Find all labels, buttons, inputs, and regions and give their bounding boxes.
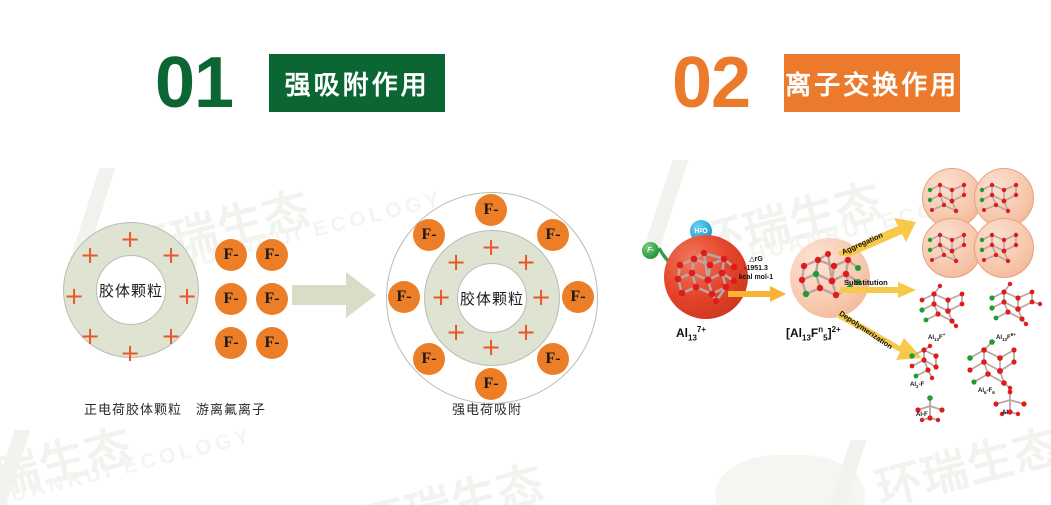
al13f-structure-2 xyxy=(980,276,1051,334)
charge-plus: + xyxy=(516,250,536,274)
charge-plus: + xyxy=(481,335,501,359)
charge-plus: + xyxy=(120,341,140,365)
al-structure xyxy=(988,388,1032,422)
adsorbed-fluoride-ion: F- xyxy=(388,281,420,313)
transition-arrow xyxy=(292,272,376,318)
delta-g-unit: kcal mol-1 xyxy=(739,274,773,281)
watermark-text: HUANRUI ECOLOGY xyxy=(0,424,256,505)
charge-plus: + xyxy=(120,227,140,251)
charge-plus: + xyxy=(446,250,466,274)
delta-g-value: -1951.3 xyxy=(744,265,768,272)
charge-plus: + xyxy=(80,243,100,267)
adsorbed-fluoride-ion: F- xyxy=(537,343,569,375)
section-header-02: 02 离子交换作用 xyxy=(672,47,960,119)
watermark-text: 环瑞生态 xyxy=(868,410,1051,505)
product-sublabel: Al xyxy=(1002,410,1008,416)
free-fluoride-ion: F- xyxy=(256,327,288,359)
colloid-core: 胶体颗粒 xyxy=(96,255,166,325)
adsorbed-fluoride-ion: F- xyxy=(562,281,594,313)
colloid-free-ion-diagram: 胶体颗粒 + + + + + + + + F- F- F- F- F- F- xyxy=(55,222,295,382)
al2f-structure xyxy=(902,340,954,386)
product-sublabel: Al2-F xyxy=(910,382,924,389)
section-header-01: 01 强吸附作用 xyxy=(155,47,445,119)
ion-exchange-diagram: F- H2O Al137+ △rG xyxy=(640,160,1051,420)
product-label: [Al13Fn5]2+ xyxy=(786,325,841,342)
watermark-cn: 环瑞生态 xyxy=(870,419,1051,505)
charge-plus: + xyxy=(481,235,501,259)
reaction-energy-text: △rG -1951.3 kcal mol-1 xyxy=(728,256,784,282)
colloid-core-label: 胶体颗粒 xyxy=(460,288,524,309)
reaction-arrow xyxy=(728,286,786,302)
charge-plus: + xyxy=(431,285,451,309)
al6f6-structure xyxy=(956,336,1032,394)
al13f-structure-1 xyxy=(910,280,980,334)
section-number-02: 02 xyxy=(672,47,750,119)
caption-positive-colloid: 正电荷胶体颗粒 xyxy=(84,399,182,418)
free-fluoride-ion: F- xyxy=(256,283,288,315)
branch-label-substitution: Substitution xyxy=(844,278,888,287)
charge-plus: + xyxy=(516,320,536,344)
alf-structure xyxy=(908,392,952,426)
adsorbed-fluoride-ion: F- xyxy=(475,368,507,400)
watermark-slash xyxy=(0,430,31,505)
adsorbed-fluoride-ion: F- xyxy=(413,219,445,251)
watermark-text: 环瑞生态 xyxy=(352,447,550,505)
caption-free-fluoride: 游离氟离子 xyxy=(196,399,266,418)
charge-adsorption-diagram: 胶体颗粒 + + + + + + + + F- F- F- F- F- F- F… xyxy=(386,192,598,404)
watermark-cn: 环瑞生态 xyxy=(0,419,137,505)
aggregate-cluster-structures xyxy=(922,168,1032,278)
watermark-en: HUANRUI ECOLOGY xyxy=(0,424,255,505)
watermark-slash xyxy=(821,440,866,505)
watermark-text: 环瑞生态 xyxy=(0,410,138,505)
charge-plus: + xyxy=(177,284,197,308)
charge-plus: + xyxy=(80,324,100,348)
charge-plus: + xyxy=(446,320,466,344)
section-number-01: 01 xyxy=(155,47,233,119)
reactant-label: Al137+ xyxy=(676,325,706,342)
adsorbed-fluoride-ion: F- xyxy=(537,219,569,251)
watermark-cn: 环瑞生态 xyxy=(354,456,549,505)
charge-plus: + xyxy=(161,324,181,348)
free-fluoride-ion: F- xyxy=(215,327,247,359)
free-fluoride-ion: F- xyxy=(256,239,288,271)
charge-plus: + xyxy=(531,285,551,309)
product-sublabel: Al-F xyxy=(916,412,928,418)
delta-g-symbol: △rG xyxy=(749,256,763,263)
free-fluoride-ion: F- xyxy=(215,283,247,315)
section-title-chip-01: 强吸附作用 xyxy=(269,54,445,112)
charge-plus: + xyxy=(64,284,84,308)
charge-plus: + xyxy=(161,243,181,267)
adsorbed-fluoride-ion: F- xyxy=(475,194,507,226)
watermark-blob xyxy=(715,455,865,505)
free-fluoride-ion: F- xyxy=(215,239,247,271)
section-title-chip-02: 离子交换作用 xyxy=(784,54,960,112)
adsorbed-fluoride-ion: F- xyxy=(413,343,445,375)
colloid-core-label: 胶体颗粒 xyxy=(99,280,163,301)
